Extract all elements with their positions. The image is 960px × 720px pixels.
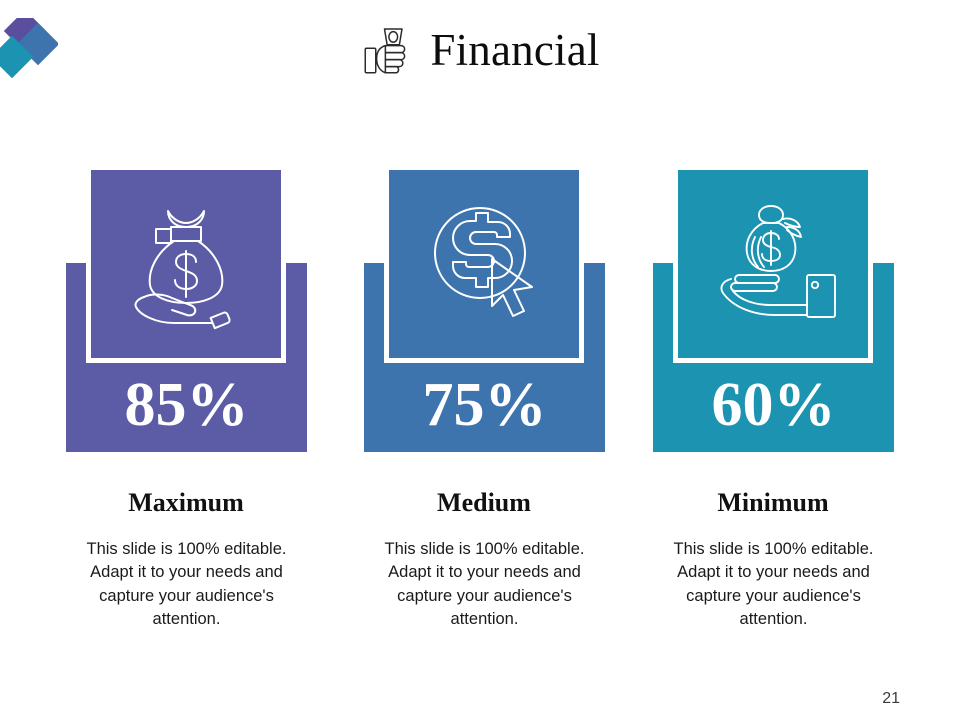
page-title: Financial (430, 28, 599, 73)
money-bag-on-hand-icon (116, 193, 256, 333)
metric-description: This slide is 100% editable. Adapt it to… (66, 538, 307, 632)
metric-description: This slide is 100% editable. Adapt it to… (364, 538, 605, 632)
metric-percent: 75% (364, 365, 605, 445)
icon-holder (673, 180, 873, 345)
metric-label: Maximum (40, 490, 332, 516)
metric-graphic: 85% (40, 160, 332, 452)
metric-label: Minimum (627, 490, 919, 516)
hand-holding-money-bag-icon (703, 193, 843, 333)
metric-percent: 60% (653, 365, 894, 445)
metric-column-medium: 75% Medium This slide is 100% editable. … (338, 160, 630, 452)
columns-container: 85% Maximum This slide is 100% editable.… (0, 160, 960, 660)
metric-percent: 85% (66, 365, 307, 445)
page-number: 21 (882, 690, 900, 708)
icon-holder (86, 180, 286, 345)
icon-holder (384, 180, 584, 345)
slide-header: Financial (0, 14, 960, 86)
metric-column-minimum: 60% Minimum This slide is 100% editable.… (627, 160, 919, 452)
metric-description: This slide is 100% editable. Adapt it to… (653, 538, 894, 632)
metric-label: Medium (338, 490, 630, 516)
dollar-coin-cursor-click-icon (414, 193, 554, 333)
hand-holding-cash-icon (360, 22, 416, 78)
metric-graphic: 60% (627, 160, 919, 452)
metric-graphic: 75% (338, 160, 630, 452)
metric-column-maximum: 85% Maximum This slide is 100% editable.… (40, 160, 332, 452)
